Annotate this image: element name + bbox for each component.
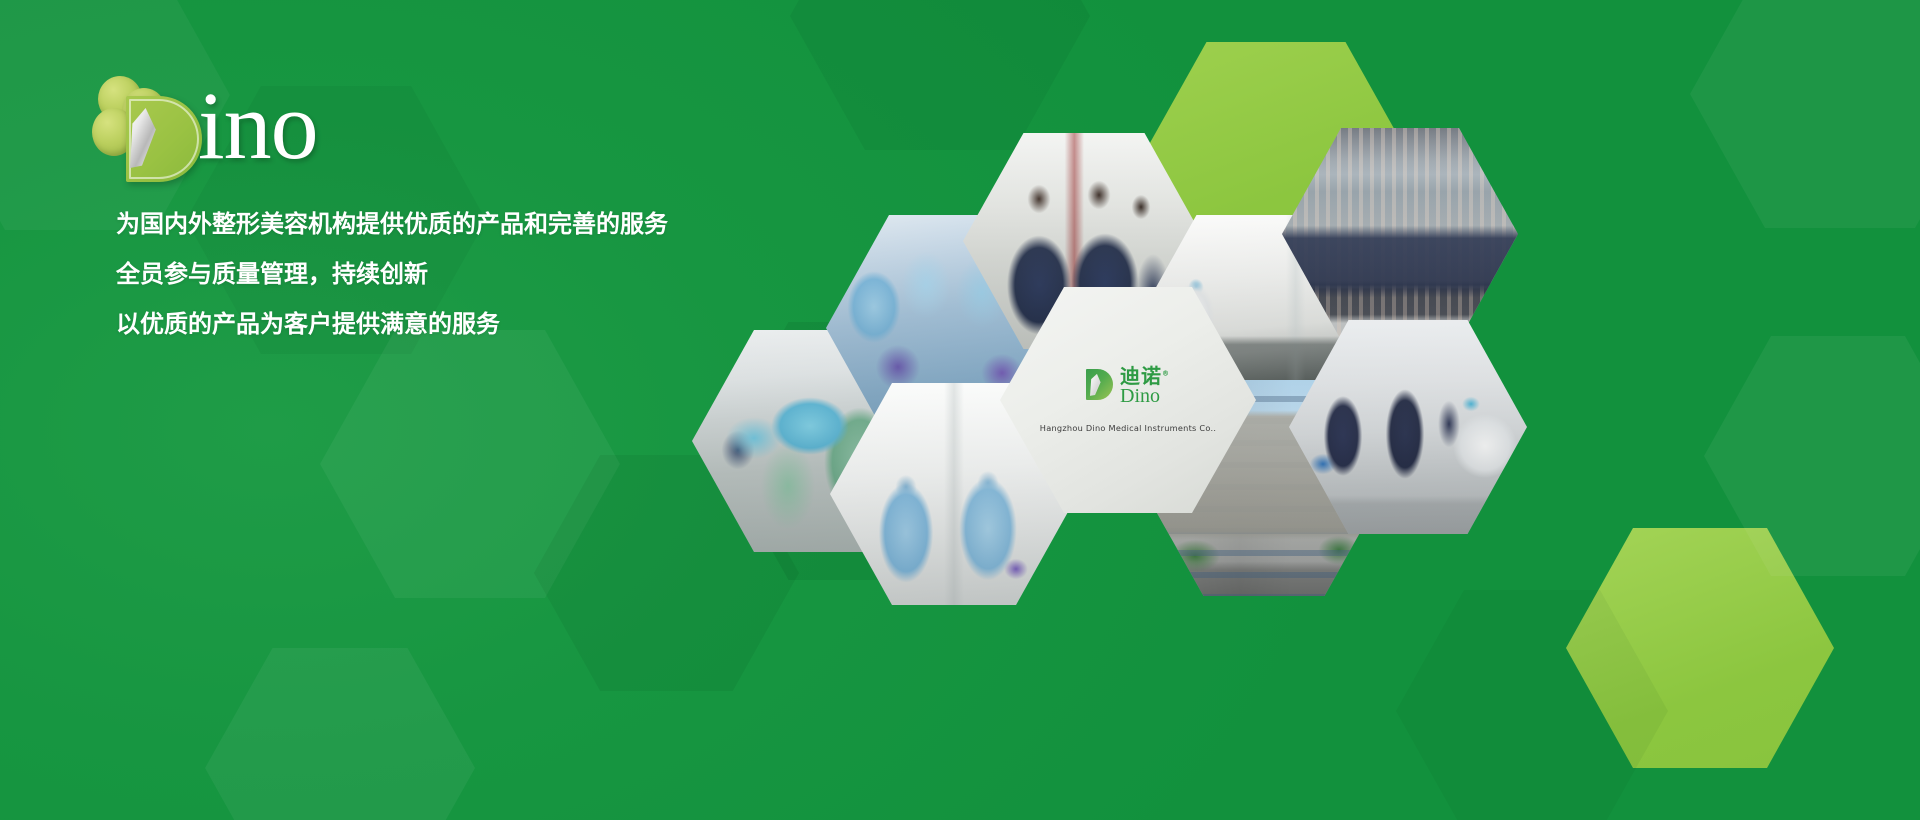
decor-hexagon-right-mid: [1704, 336, 1920, 576]
brand-company-line: Hangzhou Dino Medical Instruments Co..: [1000, 423, 1256, 433]
decor-hexagon-farright-mid: [1690, 0, 1920, 228]
brand-name-en: Dino: [1120, 387, 1170, 406]
brand-name-cn-wrapper: 迪诺®: [1120, 364, 1170, 388]
brand-name-cn: 迪诺: [1120, 364, 1162, 388]
decor-hexagon-bottomfar-dark: [1396, 590, 1668, 820]
tagline-2: 全员参与质量管理，持续创新: [116, 262, 816, 286]
hero-banner: 迪诺® Dino Hangzhou Dino Medical Instrumen…: [0, 0, 1920, 820]
tagline-1: 为国内外整形美容机构提供优质的产品和完善的服务: [116, 212, 816, 236]
tagline-3: 以优质的产品为客户提供满意的服务: [116, 312, 816, 336]
decor-hexagon-topcenter-dark: [790, 0, 1090, 150]
hero-copy-block: ino 为国内外整形美容机构提供优质的产品和完善的服务 全员参与质量管理，持续创…: [0, 0, 820, 820]
dino-logo: ino: [92, 72, 352, 182]
dino-leaf-d-mark-icon: [1086, 369, 1113, 400]
dino-wordmark: ino: [198, 78, 318, 174]
registered-mark-icon: ®: [1162, 369, 1170, 377]
tagline-list: 为国内外整形美容机构提供优质的产品和完善的服务 全员参与质量管理，持续创新 以优…: [116, 212, 816, 336]
